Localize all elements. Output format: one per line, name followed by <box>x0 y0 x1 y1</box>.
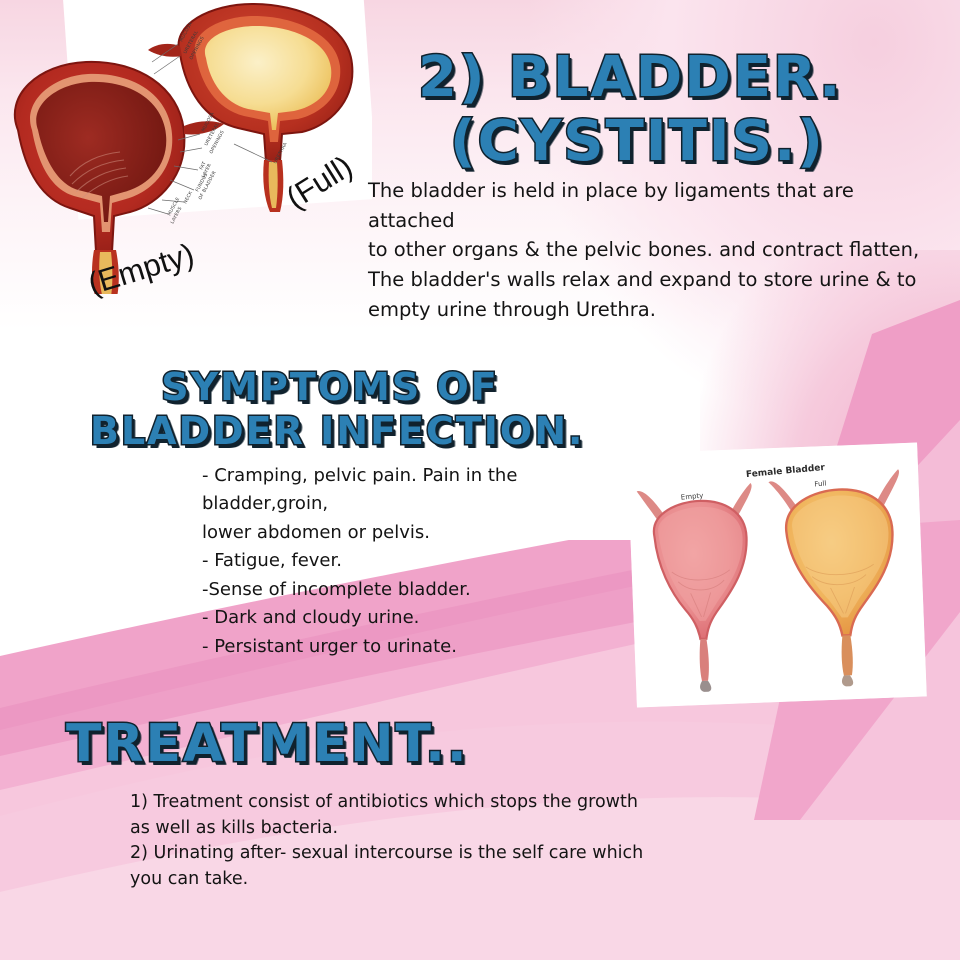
page-title-line1: 2) BLADDER. <box>418 45 842 110</box>
symptom-item: - Fatigue, fever. <box>202 547 622 575</box>
treatment-item: 2) Urinating after- sexual intercourse i… <box>130 841 650 867</box>
symptoms-heading-line2: BLADDER INFECTION. <box>90 412 570 450</box>
intro-line-2: to other organs & the pelvic bones. and … <box>368 235 946 265</box>
intro-line-1: The bladder is held in place by ligament… <box>368 176 946 235</box>
symptoms-list: - Cramping, pelvic pain. Pain in the bla… <box>202 462 622 661</box>
intro-paragraph: The bladder is held in place by ligament… <box>368 176 946 324</box>
symptom-item: lower abdomen or pelvis. <box>202 519 622 547</box>
treatment-heading: TREATMENT.. <box>66 718 469 770</box>
symptoms-heading-line1: SYMPTOMS OF <box>90 368 570 406</box>
treatment-list: 1) Treatment consist of antibiotics whic… <box>130 790 650 893</box>
svg-text:Full: Full <box>814 479 827 488</box>
symptom-item: - Dark and cloudy urine. <box>202 604 622 632</box>
symptom-item: - Cramping, pelvic pain. Pain in the bla… <box>202 462 622 519</box>
infographic-poster: MUCOSA URETERAL OPENINGS MUCOSA URETERAL… <box>0 0 960 960</box>
treatment-item: you can take. <box>130 867 650 893</box>
symptoms-heading: SYMPTOMS OF BLADDER INFECTION. <box>90 368 570 450</box>
page-title-line2: (CYSTITIS.) <box>450 114 842 170</box>
intro-line-3: The bladder's walls relax and expand to … <box>368 265 946 295</box>
page-title: 2) BLADDER. (CYSTITIS.) <box>418 50 842 170</box>
treatment-item: as well as kills bacteria. <box>130 816 650 842</box>
intro-line-4: empty urine through Urethra. <box>368 295 946 325</box>
treatment-item: 1) Treatment consist of antibiotics whic… <box>130 790 650 816</box>
symptom-item: - Persistant urger to urinate. <box>202 633 622 661</box>
symptom-item: -Sense of incomplete bladder. <box>202 576 622 604</box>
female-bladder-illustration-card: Female Bladder Empty Full <box>627 443 927 708</box>
